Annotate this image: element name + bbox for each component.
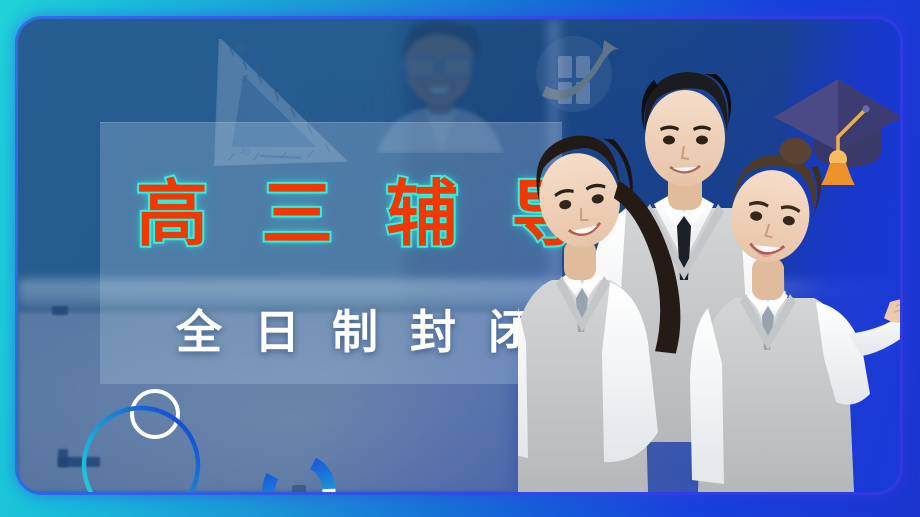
banner-inner-panel: 40 30 20 10 5 30 50 [18,19,900,492]
graduation-cap-icon [770,63,900,185]
education-banner: 40 30 20 10 5 30 50 [0,0,920,517]
watermark-logo [536,36,620,112]
decor-donut-arc [256,447,342,492]
decor-ring-large [80,404,202,492]
